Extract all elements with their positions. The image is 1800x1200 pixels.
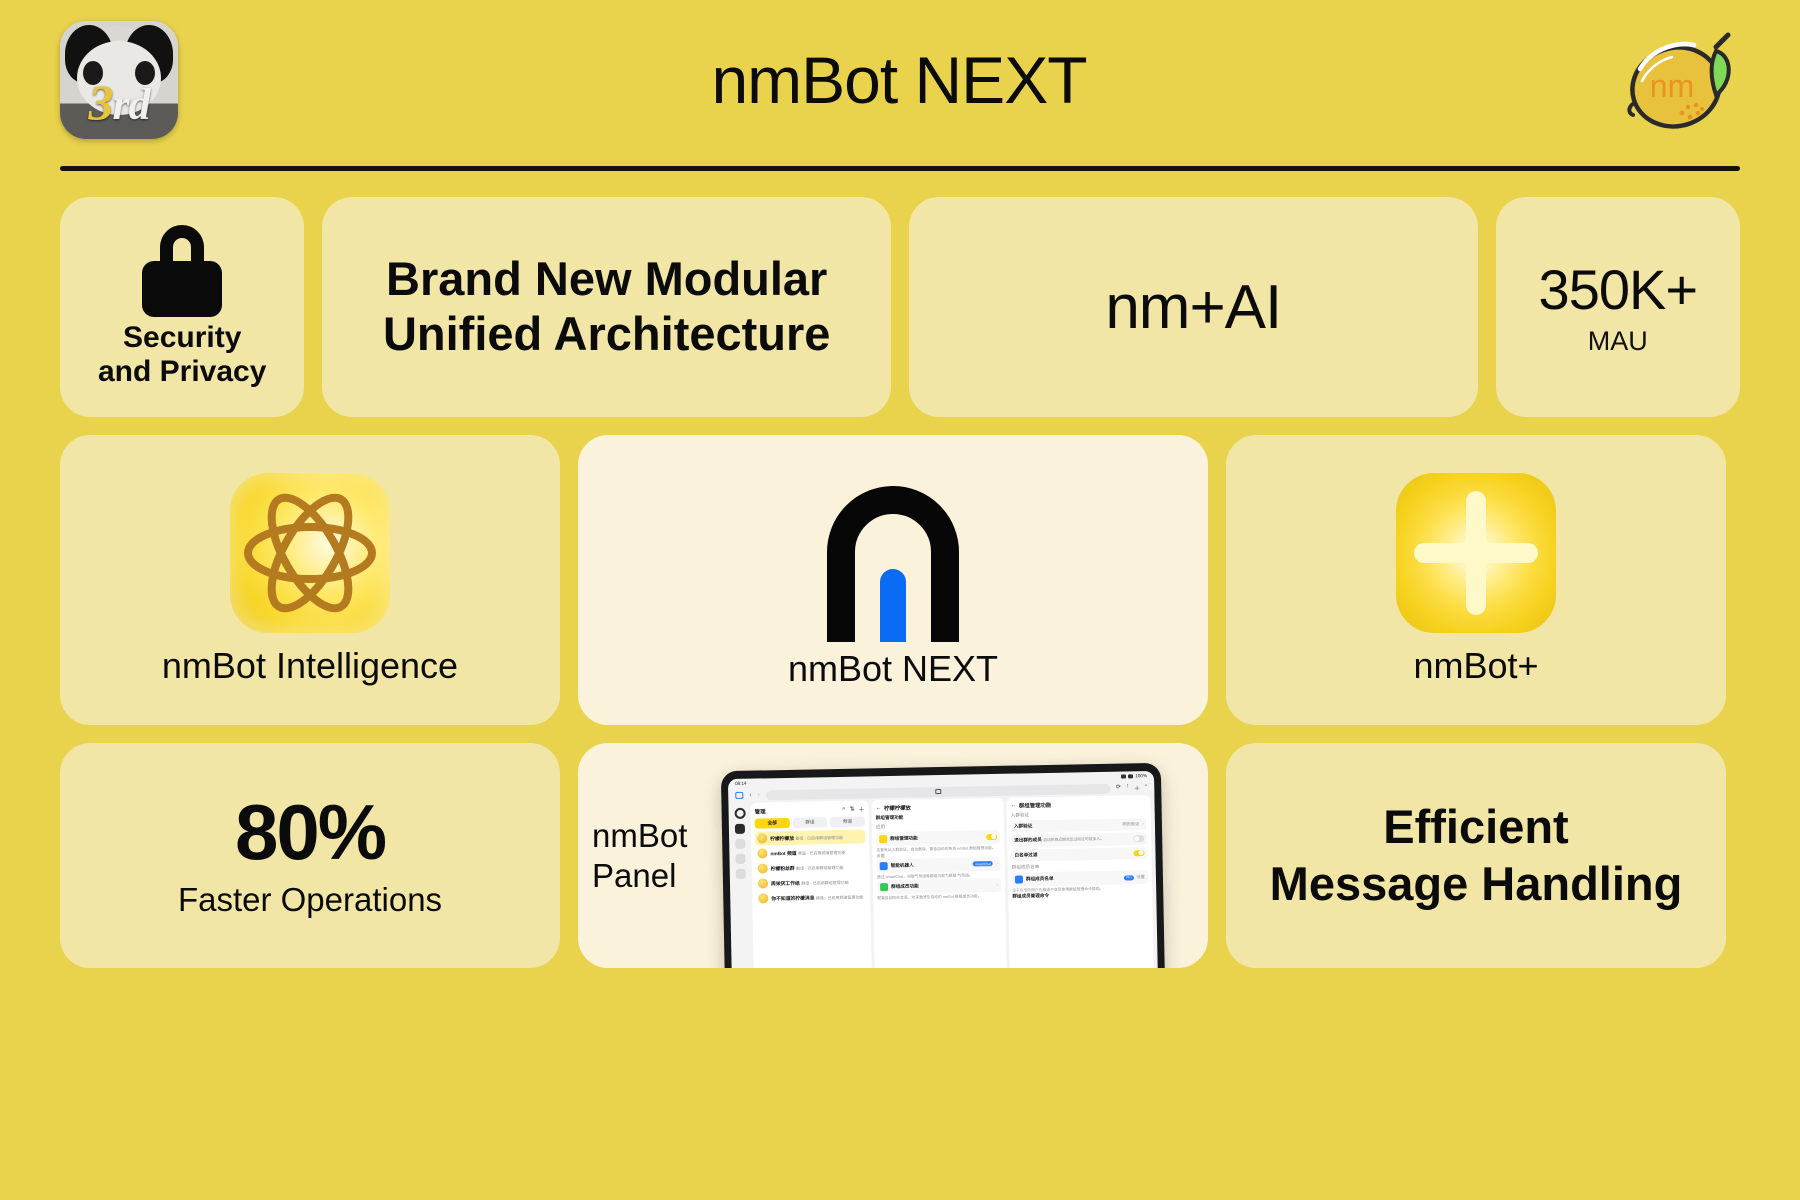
grid-row-3: 80% Faster Operations nmBot Panel 08:14 <box>60 743 1740 968</box>
sort-icon[interactable]: ⇅ <box>849 806 854 813</box>
feature-grid: Security and Privacy Brand New Modular U… <box>60 197 1740 968</box>
list-item-subtitle: 群组 · 已启用群组管理功能 <box>801 879 849 885</box>
battery-label: 100% <box>1135 773 1147 778</box>
chevron-right-icon[interactable]: › <box>1142 821 1144 827</box>
option-row[interactable]: 群组成员名单 Pro 设置 <box>1012 870 1148 887</box>
efficient-line2: Message Handling <box>1270 856 1683 912</box>
setting-row[interactable]: 群组成员功能 › <box>877 878 1001 894</box>
panel-label-line1: nmBot <box>592 816 717 856</box>
detail-pane: ← 柠檬柠檬放 群组管理功能 应用 群组管理功能 <box>871 798 1007 968</box>
poster: 3rd nmBot NEXT nm <box>0 0 1800 1200</box>
lemon-nm-logo-icon: nm <box>1620 25 1740 135</box>
list-item[interactable]: 你不知道的柠檬消息 频道 · 已启用频道管理功能 <box>756 889 866 905</box>
member-feature-icon <box>880 883 888 891</box>
list-item-text: 周栄厌工作组 群组 · 已启用群组管理功能 <box>771 878 864 887</box>
nm-ai-label: nm+AI <box>1105 272 1281 343</box>
site-icon <box>935 789 941 794</box>
list-item[interactable]: nmBot 频道 频道 · 已启用频道管理功能 <box>755 844 865 860</box>
list-item-subtitle: 频道 · 已启用频道管理功能 <box>816 894 864 900</box>
setting-title: 智能机器人 <box>891 862 914 867</box>
efficient-label: Efficient Message Handling <box>1270 799 1683 912</box>
tabs-icon[interactable]: ▫ <box>1145 783 1147 792</box>
atom-icon <box>230 473 390 633</box>
option-row[interactable]: 入群验证 网页验证 › <box>1011 818 1147 833</box>
option-body: 白名单过滤 <box>1014 850 1130 858</box>
app-icon-badge-number: 3 <box>88 74 112 130</box>
mau-label: MAU <box>1588 326 1648 357</box>
setting-row[interactable]: 智能机器人 nmartChat › <box>877 857 1001 873</box>
list-item-title: 周栄厌工作组 <box>771 881 800 887</box>
app-icon-badge-suffix: rd <box>112 80 149 129</box>
option-desc: 自动拒绝近期退出过验证时被加入。 <box>1043 837 1104 842</box>
list-item[interactable]: 周栄厌工作组 群组 · 已启用群组管理功能 <box>756 874 866 890</box>
list-item[interactable]: 柠檬柠檬放 群组 · 已启用群组管理功能 <box>755 829 865 845</box>
options-pane: ← 群组管理功能 入群验证 入群验证 网页验证 <box>1006 795 1154 968</box>
option-toggle[interactable] <box>1133 835 1144 842</box>
group-admin-icon <box>879 835 887 843</box>
nmbot-plus-label: nmBot+ <box>1413 645 1538 687</box>
status-time: 08:14 <box>735 781 747 786</box>
architecture-line1: Brand New Modular <box>383 252 830 307</box>
option-body: 入群验证 <box>1014 822 1120 830</box>
list-item-title: 柠檬粉丝群 <box>771 866 795 871</box>
back-arrow-icon[interactable]: ← <box>876 805 882 811</box>
refresh-icon[interactable]: ⟳ <box>1116 784 1121 793</box>
card-security[interactable]: Security and Privacy <box>60 197 304 417</box>
chrome-tools: ⟳ ↑ ＋ ▫ <box>1116 783 1147 793</box>
back-arrow-icon[interactable]: ← <box>1010 803 1016 809</box>
list-item-subtitle: 群组 · 已启用群组管理功能 <box>796 864 844 870</box>
percent-value: 80% <box>235 793 385 871</box>
option-body: 退出群的成员 自动拒绝近期退出过验证时被加入。 <box>1014 836 1130 844</box>
nmbot-next-label: nmBot NEXT <box>788 648 998 690</box>
setting-body: 智能机器人 <box>891 861 971 869</box>
tab-channels[interactable]: 频道 <box>830 816 865 827</box>
list-item-text: 柠檬柠檬放 群组 · 已启用群组管理功能 <box>770 833 863 842</box>
card-percent[interactable]: 80% Faster Operations <box>60 743 560 968</box>
tablet-mockup: 08:14 100% ‹ › <box>723 753 1208 968</box>
list-item-avatar <box>757 848 767 858</box>
detail-pane-header[interactable]: ← 柠檬柠檬放 <box>875 802 999 812</box>
lock-icon <box>136 225 228 317</box>
card-nmbot-next[interactable]: nmBot NEXT <box>578 435 1208 725</box>
app-icon-badge: 3rd <box>60 73 178 131</box>
intelligence-label: nmBot Intelligence <box>162 645 458 687</box>
header: 3rd nmBot NEXT nm <box>60 0 1740 160</box>
list-item-subtitle: 频道 · 已启用频道管理功能 <box>798 849 846 855</box>
list-item-avatar <box>758 893 768 903</box>
list-icon <box>1015 875 1023 883</box>
option-value[interactable]: 网页验证 <box>1122 821 1139 827</box>
share-icon[interactable]: ↑ <box>1126 783 1129 792</box>
back-icon[interactable]: ‹ <box>749 792 751 799</box>
svg-text:nm: nm <box>1650 68 1694 104</box>
options-section-label: 入群验证 <box>1011 810 1147 819</box>
list-item-text: 你不知道的柠檬消息 频道 · 已启用频道管理功能 <box>771 893 864 902</box>
architecture-label: Brand New Modular Unified Architecture <box>383 252 830 361</box>
panel-label-line2: Panel <box>592 856 717 896</box>
list-pane: 管理 ⌕ ⇅ ＋ 全部 群组 频道 <box>750 800 872 968</box>
signal-icon <box>1121 774 1126 778</box>
page-title: nmBot NEXT <box>178 42 1620 118</box>
detail-section-title: 群组管理功能 <box>876 813 1000 821</box>
option-toggle[interactable] <box>1133 850 1144 857</box>
header-divider <box>60 166 1740 171</box>
options-pane-header[interactable]: ← 群组管理功能 <box>1010 799 1146 810</box>
option-title: 入群验证 <box>1014 823 1032 828</box>
rail-item-bots-icon[interactable] <box>735 854 745 864</box>
option-title: 白名单过滤 <box>1014 852 1037 857</box>
pro-badge: Pro <box>1124 875 1133 880</box>
list-item-avatar <box>757 833 767 843</box>
rail-item-chats-icon[interactable] <box>735 824 745 834</box>
architecture-line2: Unified Architecture <box>383 307 830 362</box>
security-line2: and Privacy <box>98 355 266 390</box>
chevron-right-icon[interactable]: › <box>996 882 998 888</box>
option-title: 退出群的成员 <box>1014 837 1042 843</box>
options-pane-title: 群组管理功能 <box>1019 801 1052 810</box>
mau-value: 350K+ <box>1539 257 1698 322</box>
card-mau[interactable]: 350K+ MAU <box>1496 197 1740 417</box>
option-body: 群组成员名单 <box>1026 875 1121 883</box>
setting-body: 群组管理功能 <box>890 834 983 842</box>
nav-rail <box>731 803 751 968</box>
list-item-avatar <box>758 878 768 888</box>
add-icon[interactable]: ＋ <box>858 804 864 813</box>
forward-icon[interactable]: › <box>758 791 760 798</box>
setting-toggle[interactable] <box>986 834 997 841</box>
security-line1: Security <box>98 321 266 356</box>
setting-desc: 配置自动防失言语、欢来激清至自动的 nmBot 群组成员功能。 <box>877 894 1001 901</box>
plus-icon <box>1396 473 1556 633</box>
efficient-line1: Efficient <box>1270 799 1683 855</box>
options-section-label-2: 群组成员名单 <box>1012 862 1148 871</box>
app-icon[interactable]: 3rd <box>60 21 178 139</box>
smart-chat-icon <box>880 862 888 870</box>
option-action[interactable]: 设置 <box>1136 874 1145 880</box>
detail-pane-title: 柠檬柠檬放 <box>884 804 911 813</box>
setting-title: 群组成员功能 <box>891 883 919 889</box>
panel-label: nmBot Panel <box>592 816 717 895</box>
option-row[interactable]: 退出群的成员 自动拒绝近期退出过验证时被加入。 <box>1011 832 1147 847</box>
status-indicators: 100% <box>1121 773 1147 778</box>
detail-section-label: 应用 <box>876 822 1000 830</box>
setting-title: 群组管理功能 <box>890 835 918 841</box>
rail-item-groups-icon[interactable] <box>735 839 745 849</box>
list-pane-header: 管理 ⌕ ⇅ ＋ <box>755 804 865 815</box>
grid-row-1: Security and Privacy Brand New Modular U… <box>60 197 1740 417</box>
tablet-screen: 08:14 100% ‹ › <box>728 771 1158 968</box>
card-intelligence[interactable]: nmBot Intelligence <box>60 435 560 725</box>
wifi-icon <box>1128 774 1133 778</box>
list-item-text: 柠檬粉丝群 群组 · 已启用群组管理功能 <box>771 863 864 872</box>
list-item-title: nmBot 频道 <box>770 851 796 857</box>
nmbot-n-logo-icon <box>813 470 973 642</box>
setting-body: 群组成员功能 <box>891 882 993 890</box>
option-row[interactable]: 白名单过滤 <box>1011 847 1147 862</box>
list-pane-title: 管理 <box>755 805 839 815</box>
chevron-right-icon[interactable]: › <box>996 861 998 867</box>
option-title: 群组成员名单 <box>1026 876 1054 882</box>
tablet-frame: 08:14 100% ‹ › <box>721 763 1165 968</box>
new-tab-icon[interactable]: ＋ <box>1134 783 1140 792</box>
list-item[interactable]: 柠檬粉丝群 群组 · 已启用群组管理功能 <box>756 859 866 875</box>
card-nm-ai[interactable]: nm+AI <box>909 197 1478 417</box>
percent-label: Faster Operations <box>178 881 442 919</box>
setting-badge: nmartChat <box>973 861 993 866</box>
list-item-avatar <box>758 863 768 873</box>
search-icon[interactable]: ⌕ <box>842 806 846 813</box>
security-label: Security and Privacy <box>98 321 266 390</box>
card-architecture[interactable]: Brand New Modular Unified Architecture <box>322 197 891 417</box>
grid-row-2: nmBot Intelligence nmBot NEXT <box>60 435 1740 725</box>
tab-groups[interactable]: 群组 <box>792 817 827 828</box>
list-item-title: 柠檬柠檬放 <box>770 836 794 841</box>
avatar[interactable] <box>734 808 745 819</box>
setting-row[interactable]: 群组管理功能 <box>876 830 1000 846</box>
card-panel[interactable]: nmBot Panel 08:14 100% <box>578 743 1208 968</box>
list-item-title: 你不知道的柠檬消息 <box>771 896 814 902</box>
tab-all[interactable]: 全部 <box>755 818 790 829</box>
list-tabs: 全部 群组 频道 <box>755 816 865 828</box>
app-panes: 管理 ⌕ ⇅ ＋ 全部 群组 频道 <box>728 795 1158 968</box>
sidebar-toggle-icon[interactable] <box>735 792 743 799</box>
card-efficient[interactable]: Efficient Message Handling <box>1226 743 1726 968</box>
list-item-subtitle: 群组 · 已启用群组管理功能 <box>795 834 843 840</box>
card-nmbot-plus[interactable]: nmBot+ <box>1226 435 1726 725</box>
list-item-text: nmBot 频道 频道 · 已启用频道管理功能 <box>770 848 863 857</box>
rail-item-settings-icon[interactable] <box>736 869 746 879</box>
